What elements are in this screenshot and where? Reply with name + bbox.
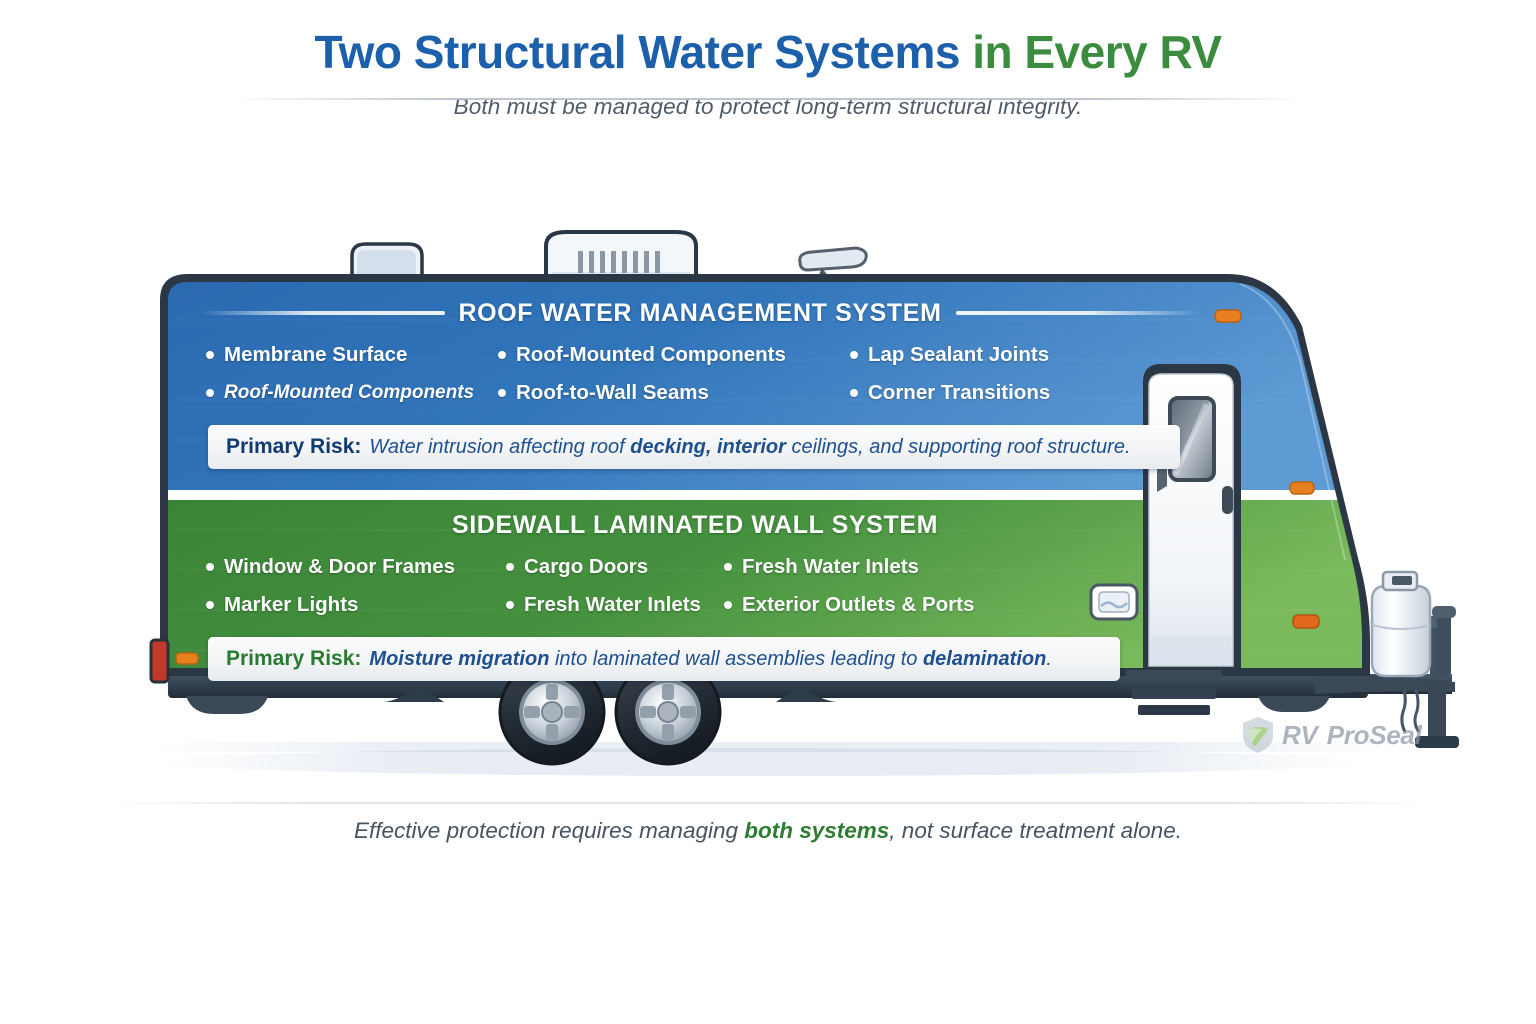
footer-highlight: both systems xyxy=(744,818,889,843)
risk-text-seg: into laminated wall assemblies leading t… xyxy=(549,648,923,670)
roof-system-bullet-list: Membrane Surface Roof-Mounted Components… xyxy=(206,336,1106,412)
risk-text-seg: . xyxy=(1046,648,1052,670)
list-item: Exterior Outlets & Ports xyxy=(724,593,1024,617)
page-title: Two Structural Water Systems in Every RV xyxy=(0,0,1536,76)
bullet-dot-icon xyxy=(498,389,506,397)
list-item: Lap Sealant Joints xyxy=(850,343,1106,367)
list-item: Fresh Water Inlets xyxy=(506,593,724,617)
bullet-label: Roof-Mounted Components xyxy=(516,343,786,367)
header: Two Structural Water Systems in Every RV… xyxy=(0,0,1536,170)
list-item: Roof-to-Wall Seams xyxy=(498,381,850,405)
tail-light xyxy=(151,640,168,682)
wall-system-bullet-list: Window & Door Frames Cargo Doors Fresh W… xyxy=(206,548,1036,624)
bullet-label: Roof-to-Wall Seams xyxy=(516,381,709,405)
roof-primary-risk-banner: Primary Risk: Water intrusion affecting … xyxy=(208,425,1180,469)
bullet-dot-icon xyxy=(206,601,214,609)
marker-light-left xyxy=(176,653,198,664)
watermark-brand-proseal: ProSeal xyxy=(1327,720,1422,750)
wall-system-heading-row: SIDEWALL LAMINATED WALL SYSTEM xyxy=(200,508,1190,542)
bullet-dot-icon xyxy=(506,601,514,609)
bullet-label: Corner Transitions xyxy=(868,381,1050,405)
list-item: Roof-Mounted Components xyxy=(206,382,498,404)
roof-heading-rule-right xyxy=(956,311,1201,315)
bullet-label: Cargo Doors xyxy=(524,555,648,579)
bullet-label: Window & Door Frames xyxy=(224,555,455,579)
risk-label: Primary Risk: xyxy=(226,435,361,459)
list-item: Corner Transitions xyxy=(850,381,1106,405)
title-green-part: in Every RV xyxy=(960,26,1222,78)
watermark-brand-rv: RV xyxy=(1282,720,1318,750)
bullet-label: Marker Lights xyxy=(224,593,358,617)
marker-light-roof-right xyxy=(1215,310,1241,322)
bullet-label: Lap Sealant Joints xyxy=(868,343,1049,367)
bullet-label: Fresh Water Inlets xyxy=(524,593,701,617)
bullet-dot-icon xyxy=(850,389,858,397)
bullet-dot-icon xyxy=(206,563,214,571)
bullet-label: Exterior Outlets & Ports xyxy=(742,593,974,617)
bullet-label: Membrane Surface xyxy=(224,343,407,367)
bullet-label: Fresh Water Inlets xyxy=(742,555,919,579)
risk-text-seg: ceilings, and supporting roof structure. xyxy=(786,436,1131,458)
stabilizer-jack-rear xyxy=(186,696,268,714)
ground-shadow xyxy=(160,748,1360,776)
bullet-dot-icon xyxy=(206,389,214,397)
list-item: Cargo Doors xyxy=(506,555,724,579)
bullet-dot-icon xyxy=(724,601,732,609)
bullet-dot-icon xyxy=(724,563,732,571)
footer-divider xyxy=(103,802,1433,804)
title-divider xyxy=(233,98,1303,100)
roof-heading-rule-left xyxy=(200,311,445,315)
list-item: Window & Door Frames xyxy=(206,555,506,579)
wall-primary-risk-banner: Primary Risk: Moisture migration into la… xyxy=(208,637,1120,681)
roof-ac-unit-icon xyxy=(546,232,696,280)
list-item: Fresh Water Inlets xyxy=(724,555,1024,579)
marker-light-mid-right xyxy=(1290,482,1314,494)
bullet-dot-icon xyxy=(498,351,506,359)
watermark-text: RV ProSeal xyxy=(1282,720,1422,751)
risk-text-bold: delamination xyxy=(923,648,1046,670)
door-kick-panel xyxy=(1151,636,1231,664)
risk-text-bold: decking, xyxy=(630,436,711,458)
bullet-dot-icon xyxy=(850,351,858,359)
wall-system-heading: SIDEWALL LAMINATED WALL SYSTEM xyxy=(452,511,938,540)
risk-text: Water intrusion affecting roof decking, … xyxy=(369,436,1130,459)
brand-watermark: RV ProSeal xyxy=(1241,716,1422,754)
footer-text-seg: Effective protection requires managing xyxy=(354,818,744,843)
title-blue-part: Two Structural Water Systems xyxy=(314,26,960,78)
bullet-label: Roof-Mounted Components xyxy=(224,382,474,404)
door-handle xyxy=(1222,486,1233,514)
footer-caption: Effective protection requires managing b… xyxy=(0,818,1536,844)
risk-text-bold: interior xyxy=(717,436,786,458)
list-item: Membrane Surface xyxy=(206,343,498,367)
bullet-dot-icon xyxy=(506,563,514,571)
marker-light-low-right xyxy=(1293,615,1319,628)
risk-text-bold: Moisture migration xyxy=(369,648,549,670)
risk-text: Moisture migration into laminated wall a… xyxy=(369,648,1051,671)
risk-label: Primary Risk: xyxy=(226,647,361,671)
roof-system-heading: ROOF WATER MANAGEMENT SYSTEM xyxy=(459,299,942,328)
roof-system-heading-row: ROOF WATER MANAGEMENT SYSTEM xyxy=(200,296,1200,330)
stabilizer-jack-front xyxy=(1258,696,1330,712)
entry-steps xyxy=(1126,670,1222,715)
bullet-dot-icon xyxy=(206,351,214,359)
ground-line xyxy=(150,742,1390,752)
shield-logo-icon xyxy=(1241,716,1275,754)
footer-text-seg: , not surface treatment alone. xyxy=(889,818,1182,843)
propane-tank-icon xyxy=(1372,572,1430,676)
list-item: Marker Lights xyxy=(206,593,506,617)
risk-text-seg: Water intrusion affecting roof xyxy=(369,436,630,458)
list-item: Roof-Mounted Components xyxy=(498,343,850,367)
exterior-port-hatch-icon xyxy=(1091,585,1137,619)
